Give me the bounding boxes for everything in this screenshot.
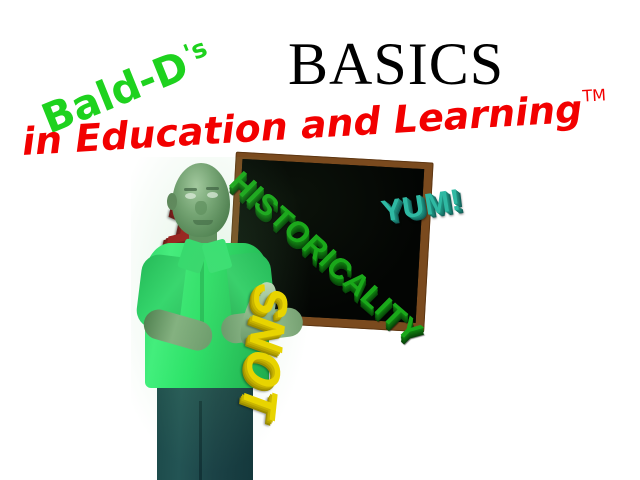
character-mouth	[193, 220, 213, 225]
character-eye-left	[185, 193, 196, 199]
character-head	[172, 163, 230, 237]
pants-seam	[199, 401, 202, 480]
teacher-character	[137, 163, 312, 480]
title-card-canvas: HISTORICALITY YUM! A SNOT BASICS Bald-D'…	[0, 0, 640, 480]
character-ear	[167, 193, 177, 210]
character-eyebrow-right	[206, 187, 219, 190]
character-eye-right	[207, 192, 218, 198]
trademark-symbol: TM	[582, 85, 607, 105]
title-basics: BASICS	[288, 34, 504, 94]
character-eyebrow-left	[184, 188, 197, 191]
character-nose	[195, 201, 207, 215]
character-pants	[157, 377, 253, 480]
